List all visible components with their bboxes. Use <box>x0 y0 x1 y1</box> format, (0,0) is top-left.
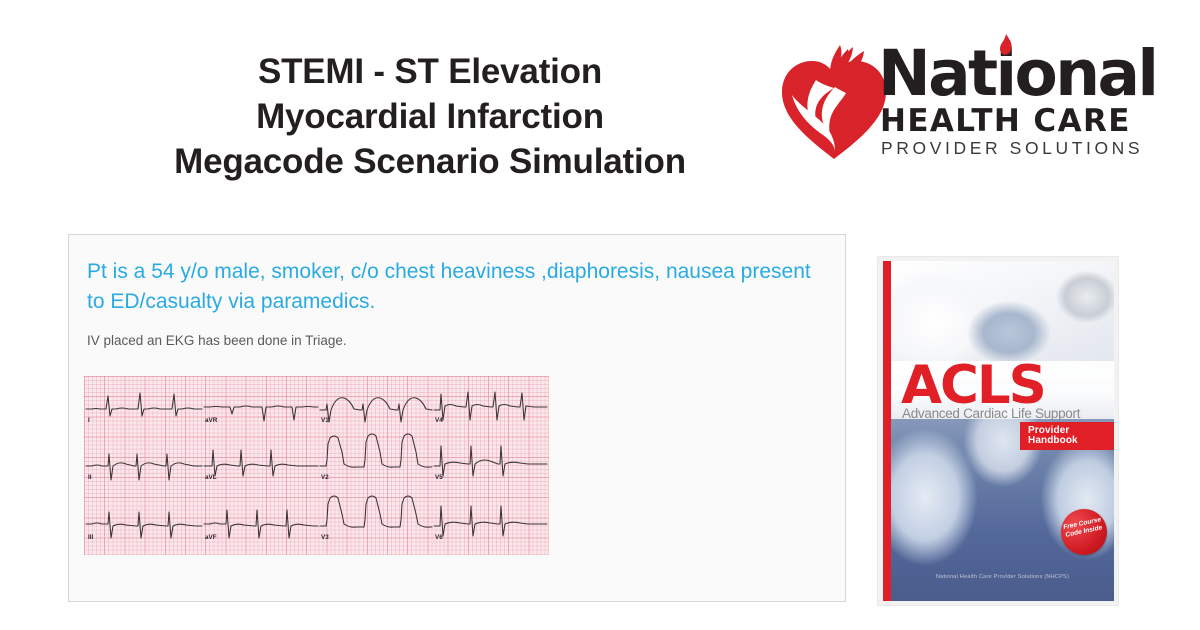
title-line-3: Megacode Scenario Simulation <box>120 140 740 185</box>
ekg-lead-label-III: III <box>88 534 93 541</box>
header: STEMI - ST Elevation Myocardial Infarcti… <box>0 0 1200 200</box>
ekg-lead-label-V3: V3 <box>321 534 329 541</box>
brand-line-provider-solutions: PROVIDER SOLUTIONS <box>881 140 1143 158</box>
ekg-strip-image: I aVR V1 V4 II aVL V2 V5 III aVF <box>84 376 549 555</box>
ekg-lead-label-V5: V5 <box>435 474 443 481</box>
ekg-lead-label-V4: V4 <box>435 417 443 424</box>
acls-provider-handbook-cover: ACLS Advanced Cardiac Life Support Provi… <box>878 257 1118 605</box>
scenario-lead-text: Pt is a 54 y/o male, smoker, c/o chest h… <box>87 257 827 318</box>
ekg-lead-label-II: II <box>88 474 92 481</box>
ekg-lead-label-aVF: aVF <box>205 534 217 541</box>
ekg-lead-label-V6: V6 <box>435 534 443 541</box>
brand-logo: National HEALTH CARE PROVIDER SOLUTIONS <box>778 24 1190 174</box>
brand-wordmark: National HEALTH CARE PROVIDER SOLUTIONS <box>878 42 1190 157</box>
free-course-code-badge-text: Free Course Code Inside <box>1059 515 1107 541</box>
book-subtitle: Advanced Cardiac Life Support <box>902 407 1080 421</box>
heart-with-flame-icon <box>778 29 890 164</box>
ekg-lead-label-I: I <box>88 417 90 424</box>
title-line-1: STEMI - ST Elevation <box>120 50 740 95</box>
brand-line-health-care: HEALTH CARE <box>880 106 1131 137</box>
brand-name-national: National <box>878 42 1156 105</box>
scenario-card: Pt is a 54 y/o male, smoker, c/o chest h… <box>68 234 846 602</box>
ekg-lead-label-aVR: aVR <box>205 417 218 424</box>
flame-dot-icon <box>998 34 1014 56</box>
book-cover-inner: ACLS Advanced Cardiac Life Support Provi… <box>883 261 1114 601</box>
title-line-2: Myocardial Infarction <box>120 95 740 140</box>
book-spine-bar <box>883 261 891 601</box>
page-title: STEMI - ST Elevation Myocardial Infarcti… <box>120 50 740 184</box>
book-handbook-badge: Provider Handbook <box>1020 422 1114 450</box>
scenario-sub-text: IV placed an EKG has been done in Triage… <box>87 332 787 351</box>
slide-canvas: STEMI - ST Elevation Myocardial Infarcti… <box>0 0 1200 630</box>
ekg-lead-label-V2: V2 <box>321 474 329 481</box>
book-title: ACLS <box>901 359 1045 412</box>
book-credit-line: National Health Care Provider Solutions … <box>891 575 1114 581</box>
ekg-lead-label-aVL: aVL <box>205 474 217 481</box>
ekg-lead-label-V1: V1 <box>321 417 329 424</box>
